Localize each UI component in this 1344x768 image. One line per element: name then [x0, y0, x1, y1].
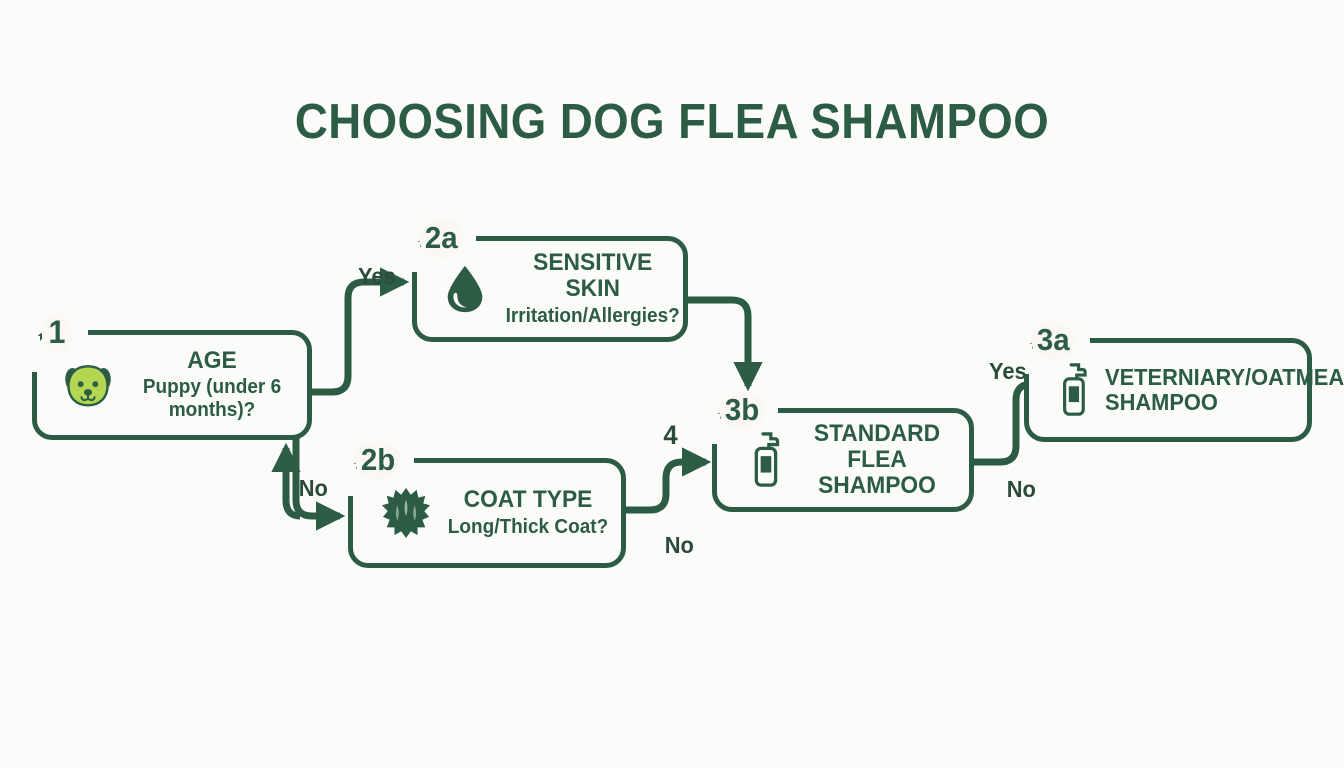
- node-sensitive-skin-title: SENSITIVE SKIN: [506, 250, 680, 302]
- edge-label-coat-no: No: [665, 532, 694, 559]
- node-age-badge: 1: [43, 313, 71, 353]
- edge-skin-to-standard: [688, 300, 748, 386]
- node-age-subtitle: Puppy (under 6 months)?: [129, 376, 294, 422]
- node-coat-type-badge: 2b: [355, 441, 401, 480]
- edge-coat-to-standard: [626, 462, 706, 510]
- dog-face-icon: [37, 359, 125, 411]
- node-coat-type-text: COAT TYPE Long/Thick Coat?: [443, 487, 621, 539]
- node-standard-shampoo-title-line1: STANDARD: [803, 421, 951, 447]
- fur-tuft-icon: [353, 486, 443, 540]
- node-veterinary-shampoo-title-line1: VETERNIARY/OATMEAL: [1105, 365, 1344, 390]
- node-veterinary-shampoo-title-line2: SHAMPOO: [1105, 390, 1344, 415]
- node-standard-shampoo-title-line2: FLEA SHAMPOO: [803, 447, 951, 499]
- node-veterinary-shampoo-text: VETERNIARY/OATMEAL SHAMPOO: [1105, 365, 1344, 415]
- node-veterinary-shampoo-badge: 3a: [1031, 321, 1075, 360]
- node-sensitive-skin-badge: 2a: [419, 219, 463, 258]
- water-droplet-icon: [417, 264, 501, 314]
- node-age[interactable]: AGE Puppy (under 6 months)?: [32, 330, 312, 440]
- edge-label-standard-no: No: [1007, 476, 1036, 503]
- edge-label-age-no: No: [299, 475, 328, 502]
- node-age-title: AGE: [129, 348, 294, 374]
- edge-label-standard-yes: Yes: [989, 358, 1027, 385]
- node-sensitive-skin-text: SENSITIVE SKIN Irritation/Allergies?: [501, 250, 692, 328]
- flowchart-canvas: CHOOSING DOG FLEA SHAMPOO: [0, 0, 1344, 768]
- shampoo-bottle-icon: [717, 432, 799, 488]
- node-coat-type-title: COAT TYPE: [447, 487, 609, 513]
- edge-label-age-yes: Yes: [358, 263, 396, 290]
- shampoo-bottle-icon: [1029, 363, 1105, 417]
- edge-age-yes: [312, 282, 404, 392]
- node-standard-shampoo-text: STANDARD FLEA SHAMPOO: [799, 421, 969, 499]
- node-standard-shampoo-badge: 3b: [719, 391, 765, 430]
- node-age-text: AGE Puppy (under 6 months)?: [125, 348, 307, 423]
- node-sensitive-skin-subtitle: Irritation/Allergies?: [506, 305, 680, 328]
- edge-label-coat-step: 4: [663, 420, 677, 451]
- node-coat-type-subtitle: Long/Thick Coat?: [447, 516, 609, 539]
